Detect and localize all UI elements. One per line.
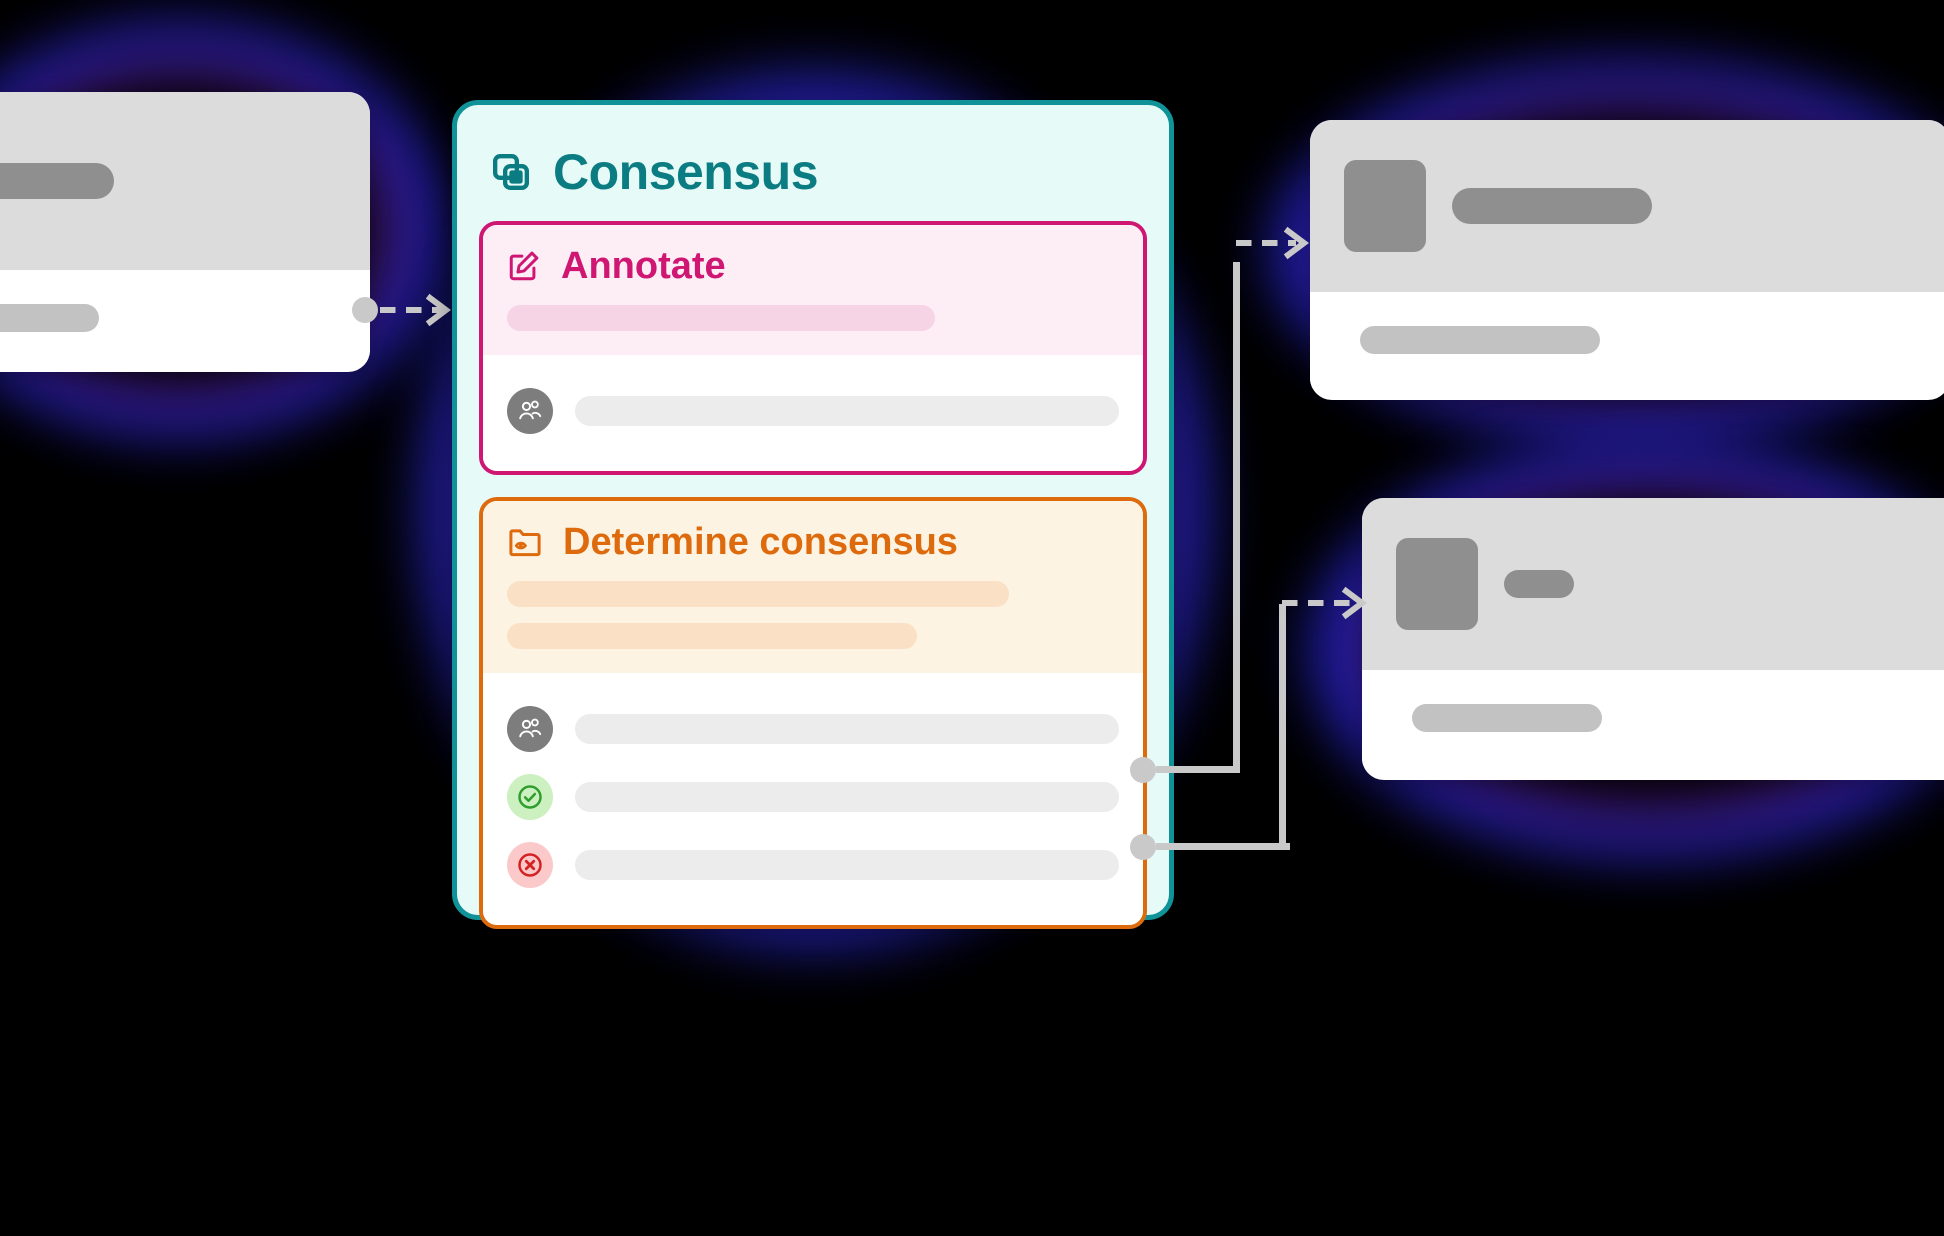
mock-header-bar (1452, 188, 1652, 224)
x-circle-icon (507, 842, 553, 888)
mock-card-body (1362, 670, 1944, 766)
mock-body-bar (1360, 326, 1600, 354)
determine-row-placeholder-bar (575, 850, 1119, 880)
mock-thumbnail (1396, 538, 1478, 630)
determine-row-placeholder-bar (575, 782, 1119, 812)
connector-dot-left-source[interactable] (352, 297, 378, 323)
section-determine-consensus-title-row: Determine consensus (507, 523, 1119, 561)
connector-dot-consensus-out-top[interactable] (1130, 757, 1156, 783)
section-annotate-header: Annotate (483, 225, 1143, 355)
mock-header-bar (0, 163, 114, 199)
source-card-left[interactable] (0, 92, 370, 372)
connector-dot-consensus-out-bottom[interactable] (1130, 834, 1156, 860)
determine-row[interactable] (507, 695, 1119, 763)
annotate-row[interactable] (507, 377, 1119, 445)
mock-card-header (1310, 120, 1944, 292)
connector-arrow-into-consensus (424, 293, 454, 327)
target-card-bottom-right[interactable] (1362, 498, 1944, 780)
annotate-row-placeholder-bar (575, 396, 1119, 426)
determine-row-placeholder-bar (575, 714, 1119, 744)
consensus-title: Consensus (553, 147, 818, 197)
mock-body-bar (1412, 704, 1602, 732)
connector-seg-top-h1 (1156, 766, 1240, 773)
determine-placeholder-bar-2 (507, 623, 917, 649)
mock-card-body (1310, 292, 1944, 388)
mock-header-bar (1504, 570, 1574, 598)
connector-arrow-into-bottom-right (1340, 586, 1370, 620)
target-card-top-right[interactable] (1310, 120, 1944, 400)
section-annotate-title: Annotate (561, 247, 726, 285)
mock-body-bar (0, 304, 99, 332)
section-determine-consensus-body (483, 673, 1143, 925)
connector-seg-bottom-v1 (1279, 604, 1286, 848)
check-circle-icon (507, 774, 553, 820)
section-annotate-title-row: Annotate (507, 247, 1119, 285)
section-annotate-body (483, 355, 1143, 471)
mock-thumbnail (1344, 160, 1426, 252)
consensus-header: Consensus (479, 127, 1147, 221)
determine-placeholder-bar-1 (507, 581, 1009, 607)
section-annotate-placeholder-bar (507, 305, 935, 331)
connector-seg-bottom-h1 (1156, 843, 1290, 850)
section-determine-consensus-header: Determine consensus (483, 501, 1143, 673)
determine-row[interactable] (507, 831, 1119, 899)
connector-arrow-into-top-right (1282, 226, 1312, 260)
determine-row[interactable] (507, 763, 1119, 831)
users-avatar-icon (507, 706, 553, 752)
mock-card-header (1362, 498, 1944, 670)
section-determine-consensus-title: Determine consensus (563, 523, 958, 561)
pencil-square-icon (507, 249, 541, 283)
mock-card-body (0, 270, 370, 366)
overlapping-squares-icon (491, 152, 531, 192)
section-annotate[interactable]: Annotate (479, 221, 1147, 475)
folder-eye-icon (507, 524, 543, 560)
diagram-canvas: Consensus Annotate (0, 0, 1944, 1236)
mock-card-header (0, 92, 370, 270)
users-avatar-icon (507, 388, 553, 434)
section-determine-consensus[interactable]: Determine consensus (479, 497, 1147, 929)
connector-seg-top-v1 (1233, 262, 1240, 770)
consensus-card[interactable]: Consensus Annotate (452, 100, 1174, 920)
